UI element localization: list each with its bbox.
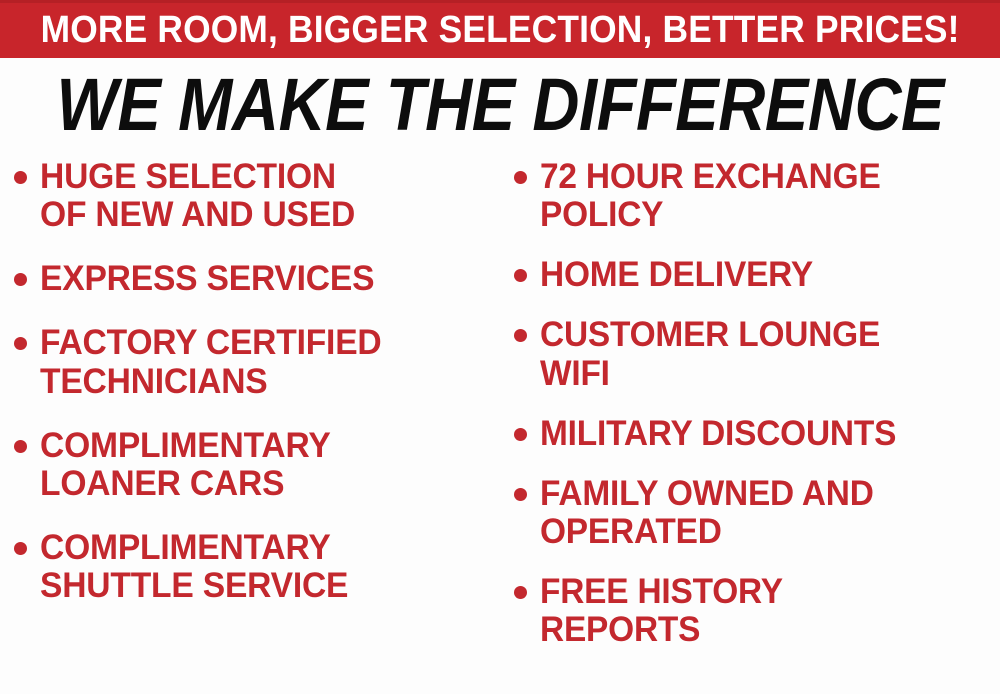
bullet-dot-icon xyxy=(514,428,527,441)
list-item: FACTORY CERTIFIED TECHNICIANS xyxy=(14,324,496,400)
list-item: HOME DELIVERY xyxy=(514,256,998,294)
list-item: FAMILY OWNED AND OPERATED xyxy=(514,475,998,551)
banner-strip-text: MORE ROOM, BIGGER SELECTION, BETTER PRIC… xyxy=(40,11,959,51)
list-item: CUSTOMER LOUNGE WIFI xyxy=(514,316,998,392)
feature-text: FREE HISTORY REPORTS xyxy=(540,573,783,649)
list-item: EXPRESS SERVICES xyxy=(14,260,496,298)
feature-text: HUGE SELECTION OF NEW AND USED xyxy=(40,158,355,234)
headline-container: WE MAKE THE DIFFERENCE xyxy=(0,66,1000,144)
list-item: 72 HOUR EXCHANGE POLICY xyxy=(514,158,998,234)
list-item: MILITARY DISCOUNTS xyxy=(514,415,998,453)
list-item: COMPLIMENTARY SHUTTLE SERVICE xyxy=(14,529,496,605)
bullet-dot-icon xyxy=(514,269,527,282)
bullet-dot-icon xyxy=(514,586,527,599)
features-columns: HUGE SELECTION OF NEW AND USED EXPRESS S… xyxy=(0,158,1000,694)
feature-text: COMPLIMENTARY LOANER CARS xyxy=(40,427,331,503)
feature-text: CUSTOMER LOUNGE WIFI xyxy=(540,316,880,392)
feature-text: FACTORY CERTIFIED TECHNICIANS xyxy=(40,324,381,400)
bullet-dot-icon xyxy=(514,488,527,501)
list-item: HUGE SELECTION OF NEW AND USED xyxy=(14,158,496,234)
list-item: COMPLIMENTARY LOANER CARS xyxy=(14,427,496,503)
feature-text: FAMILY OWNED AND OPERATED xyxy=(540,475,874,551)
features-column-right: 72 HOUR EXCHANGE POLICY HOME DELIVERY CU… xyxy=(500,158,1000,671)
feature-text: MILITARY DISCOUNTS xyxy=(540,415,896,453)
bullet-dot-icon xyxy=(514,329,527,342)
bullet-dot-icon xyxy=(14,171,27,184)
bullet-dot-icon xyxy=(14,440,27,453)
feature-text: COMPLIMENTARY SHUTTLE SERVICE xyxy=(40,529,348,605)
list-item: FREE HISTORY REPORTS xyxy=(514,573,998,649)
bullet-dot-icon xyxy=(14,542,27,555)
feature-text: 72 HOUR EXCHANGE POLICY xyxy=(540,158,881,234)
bullet-dot-icon xyxy=(14,273,27,286)
main-headline: WE MAKE THE DIFFERENCE xyxy=(56,68,944,142)
bullet-dot-icon xyxy=(14,337,27,350)
promotional-banner: MORE ROOM, BIGGER SELECTION, BETTER PRIC… xyxy=(0,0,1000,694)
feature-text: HOME DELIVERY xyxy=(540,256,813,294)
features-column-left: HUGE SELECTION OF NEW AND USED EXPRESS S… xyxy=(0,158,500,631)
bullet-dot-icon xyxy=(514,171,527,184)
feature-text: EXPRESS SERVICES xyxy=(40,260,374,298)
top-banner-bar: MORE ROOM, BIGGER SELECTION, BETTER PRIC… xyxy=(0,0,1000,58)
